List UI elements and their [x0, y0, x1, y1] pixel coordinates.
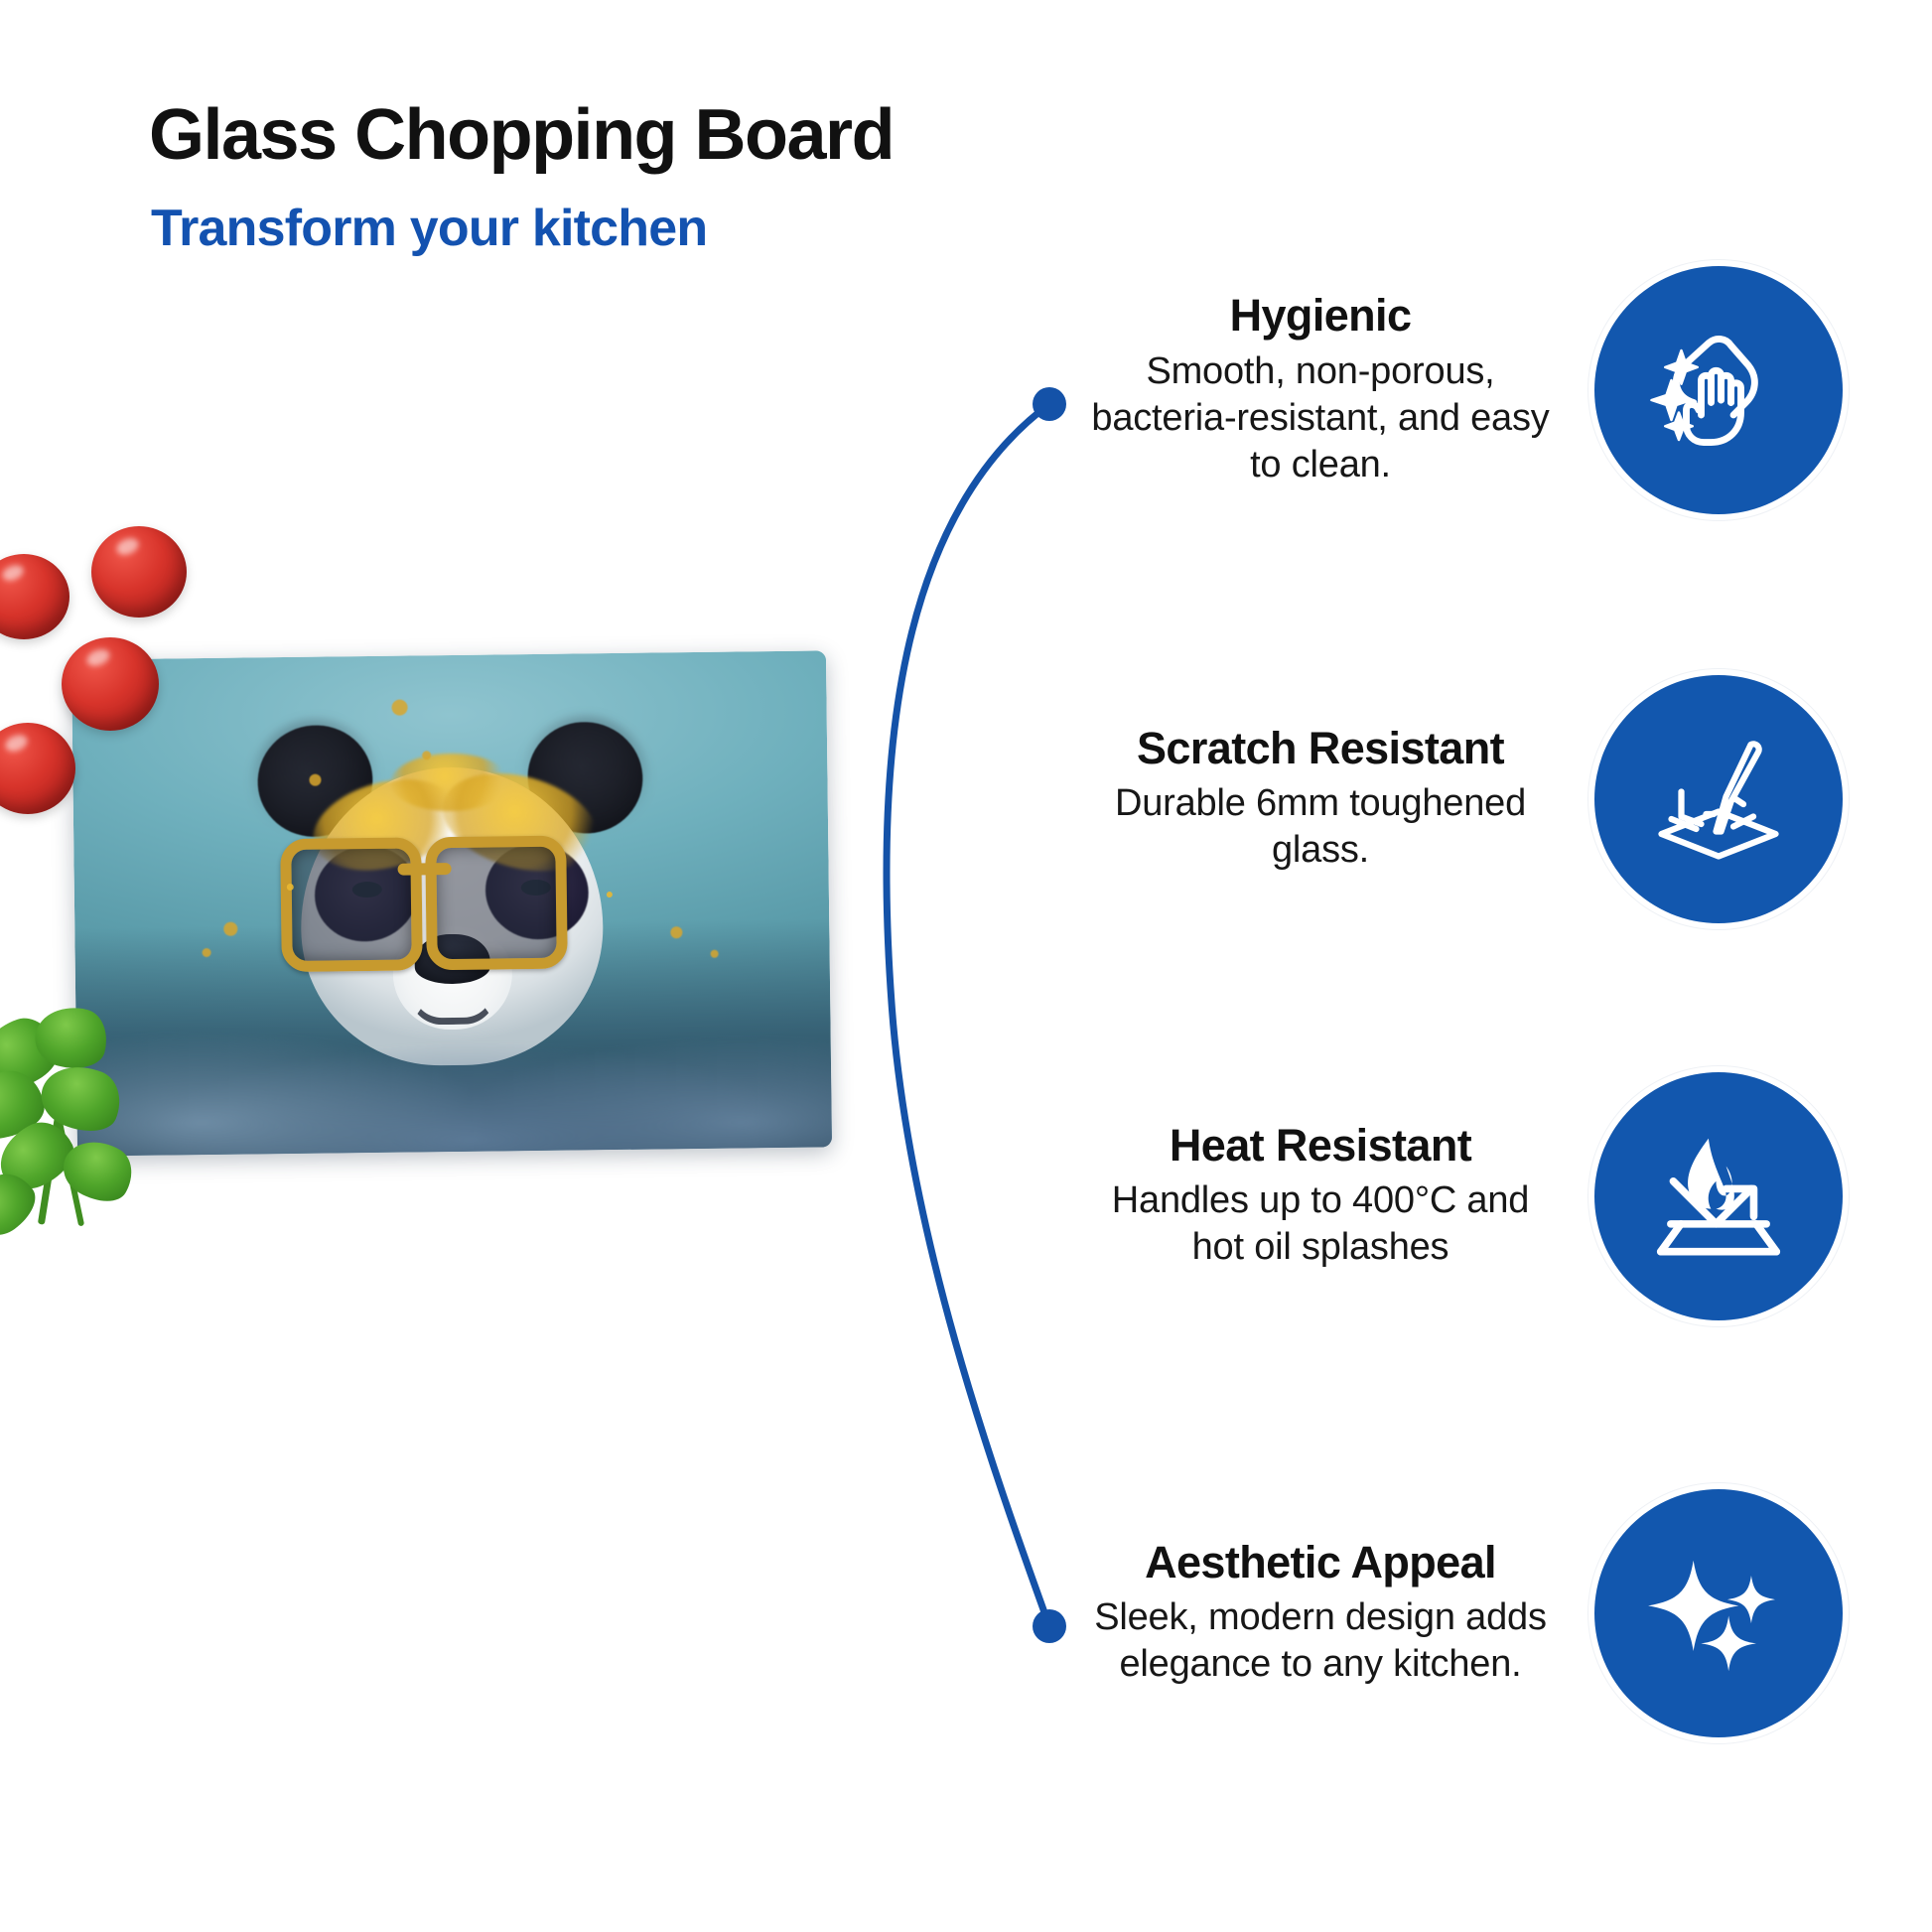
powder-speck [203, 948, 211, 957]
feature-description: Durable 6mm toughened glass. [1082, 780, 1559, 874]
glasses-bridge [398, 863, 452, 876]
powder-speck [607, 892, 613, 897]
feature-text: Aesthetic Appeal Sleek, modern design ad… [1082, 1539, 1559, 1689]
feature-scratch-resistant: Scratch Resistant Durable 6mm toughened … [1082, 675, 1843, 923]
sparkles-icon [1643, 1538, 1794, 1689]
hand-wiping-sparkle-icon [1644, 316, 1793, 465]
feature-text: Scratch Resistant Durable 6mm toughened … [1082, 725, 1559, 875]
feature-title: Heat Resistant [1170, 1122, 1471, 1171]
powder-speck [711, 950, 719, 958]
powder-speck [422, 751, 431, 759]
feature-title: Hygienic [1230, 292, 1412, 341]
glasses-lens-left [280, 837, 423, 972]
connector-endpoint-bottom [1033, 1609, 1066, 1643]
feature-aesthetic-appeal: Aesthetic Appeal Sleek, modern design ad… [1082, 1489, 1843, 1737]
knife-scratch-surface-icon [1644, 725, 1793, 874]
powder-speck [391, 700, 407, 716]
panda-glasses [280, 836, 567, 959]
page-title: Glass Chopping Board [149, 94, 894, 176]
feature-title: Scratch Resistant [1137, 725, 1504, 773]
cherry-tomato [62, 637, 159, 731]
cherry-tomato [0, 554, 69, 639]
flame-deflect-arrow-icon [1643, 1121, 1794, 1272]
glasses-lens-right [425, 836, 568, 971]
scratch-resistant-icon-badge [1594, 675, 1843, 923]
infographic-canvas: Glass Chopping Board Transform your kitc… [0, 0, 1932, 1932]
feature-title: Aesthetic Appeal [1145, 1539, 1496, 1587]
hygienic-icon-badge [1594, 266, 1843, 514]
cherry-tomato [0, 723, 75, 814]
parsley-sprig [0, 1011, 193, 1239]
powder-speck [670, 926, 682, 938]
product-image [0, 596, 844, 1291]
powder-speck [309, 774, 321, 786]
heat-resistant-icon-badge [1594, 1072, 1843, 1320]
feature-description: Handles up to 400°C and hot oil splashes [1082, 1177, 1559, 1271]
feature-hygienic: Hygienic Smooth, non-porous, bacteria-re… [1082, 266, 1843, 514]
feature-description: Sleek, modern design adds elegance to an… [1082, 1594, 1559, 1688]
feature-heat-resistant: Heat Resistant Handles up to 400°C and h… [1082, 1072, 1843, 1320]
page-subtitle: Transform your kitchen [151, 199, 707, 258]
cherry-tomato [91, 526, 187, 618]
feature-description: Smooth, non-porous, bacteria-resistant, … [1082, 348, 1559, 488]
powder-speck [223, 922, 237, 936]
powder-speck [287, 884, 294, 891]
feature-text: Hygienic Smooth, non-porous, bacteria-re… [1082, 292, 1559, 488]
connector-path [887, 404, 1049, 1626]
aesthetic-appeal-icon-badge [1594, 1489, 1843, 1737]
connector-endpoint-top [1033, 387, 1066, 421]
feature-text: Heat Resistant Handles up to 400°C and h… [1082, 1122, 1559, 1272]
